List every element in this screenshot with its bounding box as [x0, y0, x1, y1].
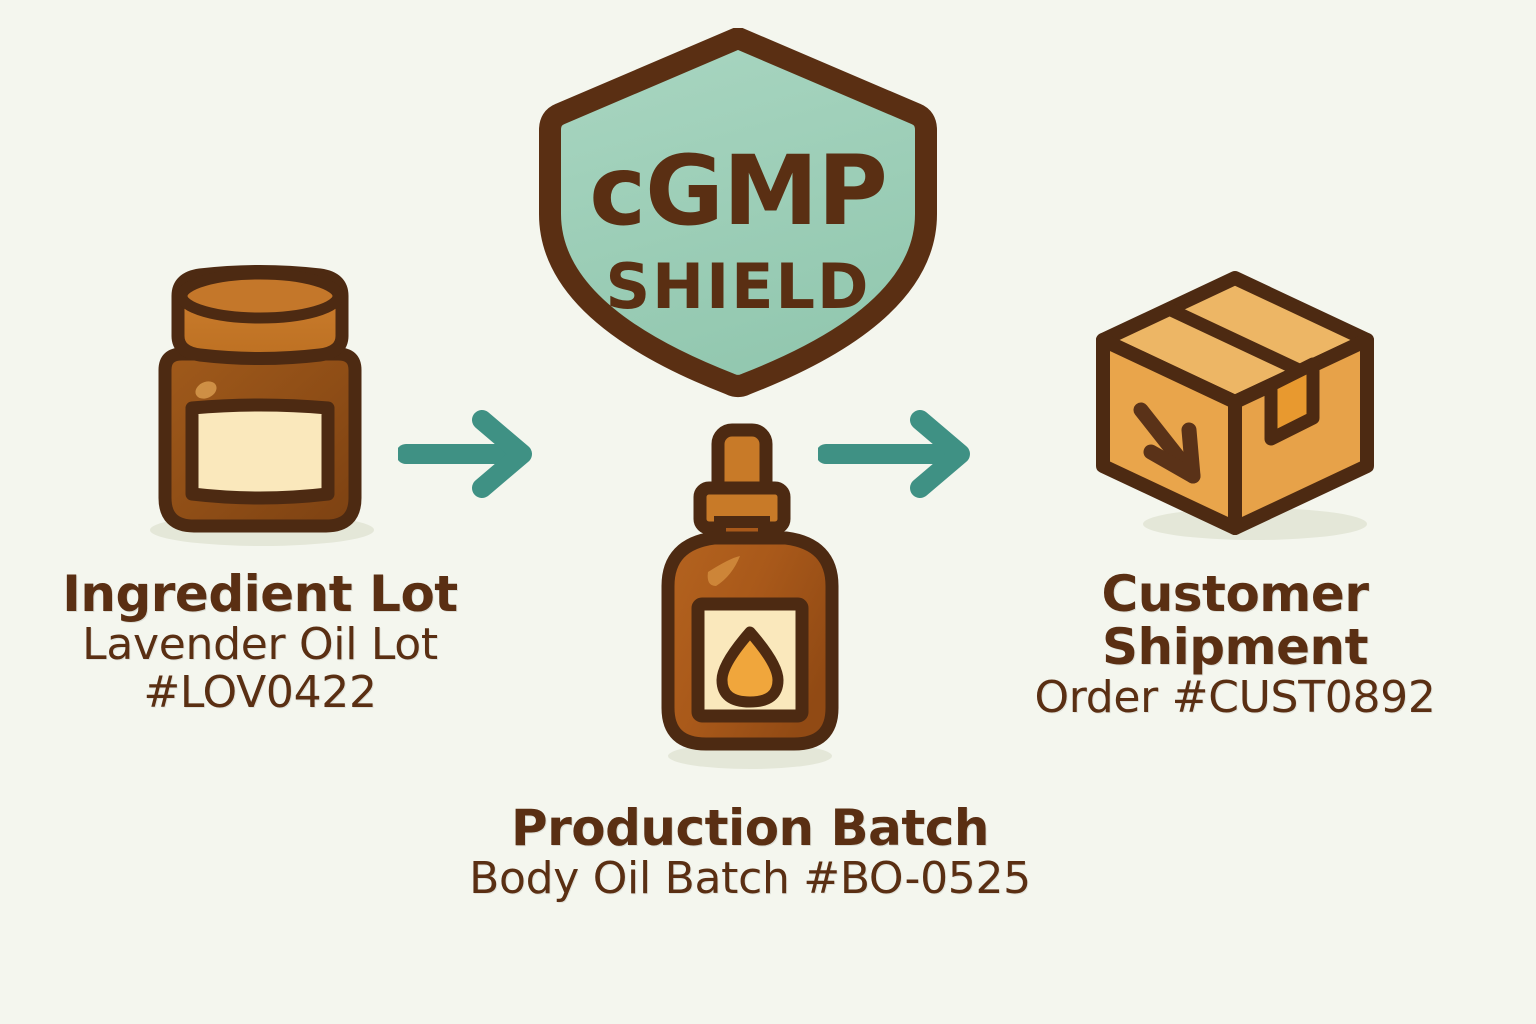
node-production-batch: Production Batch Body Oil Batch #BO-0525 [440, 420, 1060, 903]
cgmp-shield-badge: cGMP SHIELD [538, 28, 938, 398]
dropper-bottle-icon [640, 420, 860, 780]
jar-icon [120, 262, 400, 552]
ingredient-lot-title: Ingredient Lot [30, 568, 490, 621]
production-batch-subtitle-1: Body Oil Batch #BO-0525 [440, 855, 1060, 903]
node-customer-shipment: Customer Shipment Order #CUST0892 [1000, 262, 1470, 722]
customer-shipment-subtitle-1: Order #CUST0892 [1000, 674, 1470, 722]
shield-line2: SHIELD [606, 250, 871, 323]
shipping-box-icon [1085, 262, 1385, 552]
production-batch-title: Production Batch [440, 802, 1060, 855]
node-ingredient-lot: Ingredient Lot Lavender Oil Lot #LOV0422 [30, 262, 490, 718]
shield-line1: cGMP [589, 135, 887, 247]
shield-icon: cGMP SHIELD [538, 28, 938, 398]
diagram-canvas: cGMP SHIELD [0, 0, 1536, 1024]
ingredient-lot-subtitle-1: Lavender Oil Lot [30, 621, 490, 669]
customer-shipment-title-line2: Shipment [1000, 621, 1470, 674]
ingredient-lot-subtitle-2: #LOV0422 [30, 669, 490, 717]
customer-shipment-title-line1: Customer [1000, 568, 1470, 621]
